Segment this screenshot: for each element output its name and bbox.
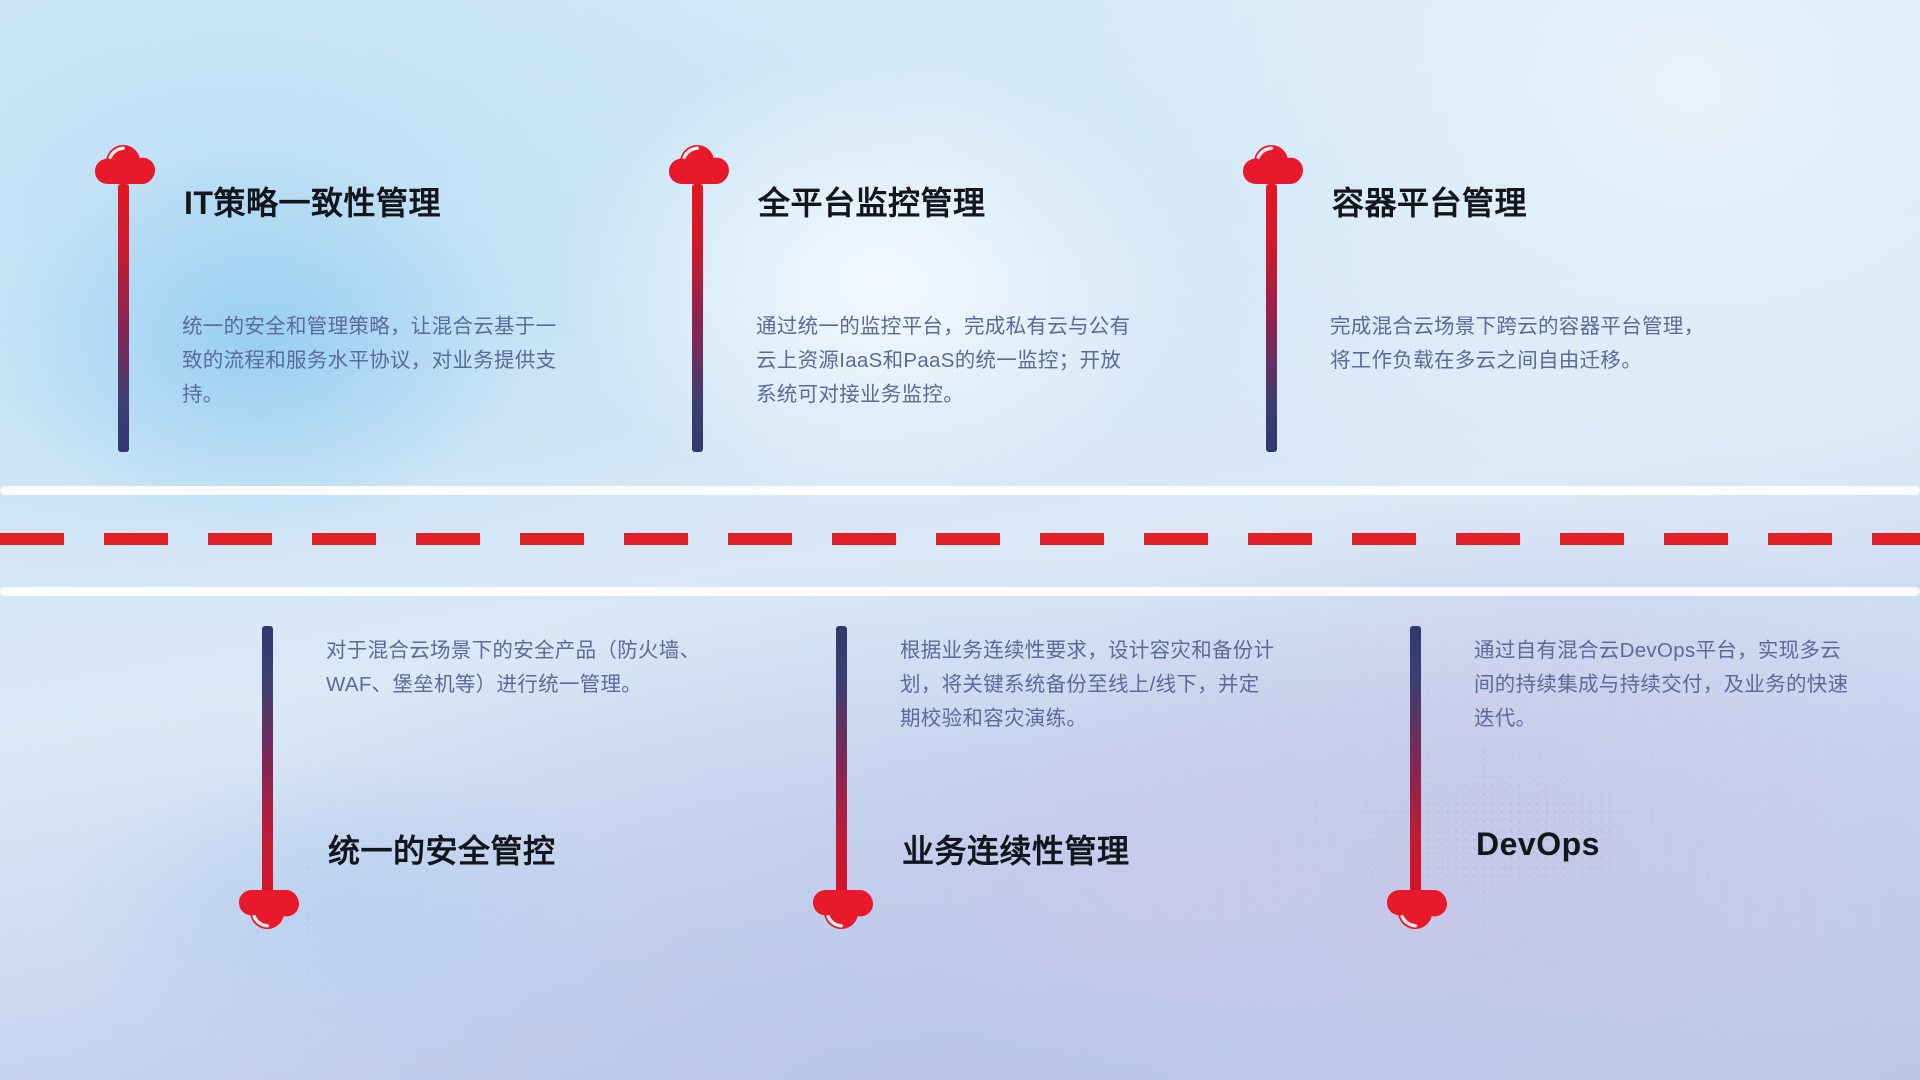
item-heading: 统一的安全管控 [328, 826, 556, 872]
item-body-text: 对于混合云场景下的安全产品（防火墙、WAF、堡垒机等）进行统一管理。 [326, 634, 706, 702]
item-heading: 全平台监控管理 [758, 178, 986, 224]
dashed-divider-line [0, 533, 1920, 545]
item-heading: 容器平台管理 [1332, 178, 1527, 224]
cloud-icon [94, 139, 156, 185]
divider-line-top [0, 486, 1920, 495]
cloud-icon-flipped [1386, 889, 1448, 935]
connector-bar [1410, 626, 1421, 896]
item-body-text: 根据业务连续性要求，设计容灾和备份计划，将关键系统备份至线上/线下，并定期校验和… [900, 634, 1280, 736]
item-heading: IT策略一致性管理 [184, 178, 441, 224]
item-heading: 业务连续性管理 [902, 826, 1130, 872]
connector-bar [262, 626, 273, 896]
item-body-text: 通过自有混合云DevOps平台，实现多云间的持续集成与持续交付，及业务的快速迭代… [1474, 634, 1854, 736]
connector-bar [118, 184, 129, 452]
item-heading: DevOps [1476, 826, 1600, 863]
cloud-icon-flipped [812, 889, 874, 935]
connector-bar [692, 184, 703, 452]
item-body-text: 完成混合云场景下跨云的容器平台管理，将工作负载在多云之间自由迁移。 [1330, 310, 1710, 378]
cloud-icon-flipped [238, 889, 300, 935]
divider-line-bottom [0, 587, 1920, 596]
connector-bar [836, 626, 847, 896]
cloud-icon [668, 139, 730, 185]
connector-bar [1266, 184, 1277, 452]
item-body-text: 统一的安全和管理策略，让混合云基于一致的流程和服务水平协议，对业务提供支持。 [182, 310, 562, 412]
divider-band [0, 486, 1920, 596]
cloud-icon [1242, 139, 1304, 185]
item-body-text: 通过统一的监控平台，完成私有云与公有云上资源IaaS和PaaS的统一监控；开放系… [756, 310, 1136, 412]
